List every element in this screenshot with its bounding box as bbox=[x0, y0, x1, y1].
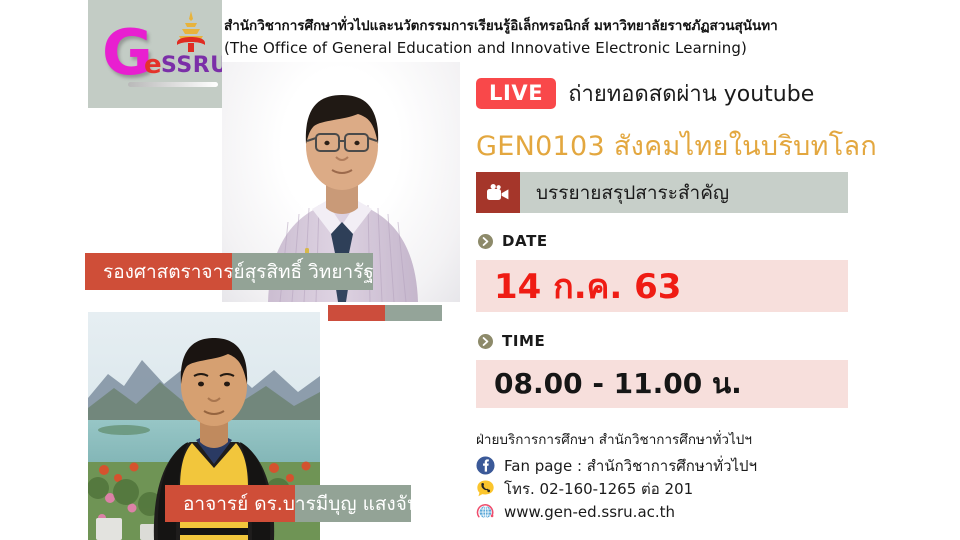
organization-title: สำนักวิชาการศึกษาทั่วไปและนวัตกรรมการเรี… bbox=[224, 16, 864, 60]
live-broadcast-text: ถ่ายทอดสดผ่าน youtube bbox=[568, 76, 814, 111]
time-value-bar: 08.00 - 11.00 น. bbox=[476, 360, 848, 408]
facebook-icon[interactable] bbox=[476, 456, 495, 475]
website-text: www.gen-ed.ssru.ac.th bbox=[504, 503, 675, 521]
time-value: 08.00 - 11.00 น. bbox=[494, 362, 742, 406]
chevron-right-circle-icon bbox=[478, 334, 493, 349]
chevron-right-circle-icon bbox=[478, 234, 493, 249]
date-value-bar: 14 ก.ค. 63 bbox=[476, 260, 848, 312]
decorative-bar-red bbox=[328, 305, 385, 321]
contact-row-phone[interactable]: โทร. 02-160-1265 ต่อ 201 bbox=[476, 477, 876, 500]
topic-text: บรรยายสรุปสาระสำคัญ bbox=[536, 178, 729, 208]
live-broadcast-row: LIVE ถ่ายทอดสดผ่าน youtube bbox=[476, 76, 814, 111]
video-camera-icon bbox=[476, 172, 520, 213]
time-label: TIME bbox=[502, 332, 545, 350]
org-title-english: (The Office of General Education and Inn… bbox=[224, 37, 864, 60]
date-label-row: DATE bbox=[478, 232, 548, 250]
contact-row-facebook[interactable]: Fan page : สำนักวิชาการศึกษาทั่วไปฯ bbox=[476, 454, 876, 477]
time-label-row: TIME bbox=[478, 332, 545, 350]
speaker-1-name-banner: รองศาสตราจารย์สุรสิทธิ์ วิทยารัฐ bbox=[85, 253, 373, 290]
ssru-logo: G e SSRU bbox=[88, 0, 222, 108]
logo-letters-ssru: SSRU bbox=[161, 55, 222, 77]
phone-text: โทร. 02-160-1265 ต่อ 201 bbox=[504, 477, 693, 501]
contact-heading: ฝ่ายบริการการศึกษา สำนักวิชาการศึกษาทั่ว… bbox=[476, 428, 876, 450]
contact-block: ฝ่ายบริการการศึกษา สำนักวิชาการศึกษาทั่ว… bbox=[476, 428, 876, 523]
logo-letter-e: e bbox=[144, 52, 162, 78]
contact-row-website[interactable]: www.gen-ed.ssru.ac.th bbox=[476, 500, 876, 523]
speaker-2-name-banner: อาจารย์ ดร.บารมีบุญ แสงจันทร์ bbox=[165, 485, 411, 522]
org-title-thai: สำนักวิชาการศึกษาทั่วไปและนวัตกรรมการเรี… bbox=[224, 16, 864, 37]
thai-crown-icon bbox=[174, 10, 208, 54]
date-value: 14 ก.ค. 63 bbox=[494, 259, 681, 313]
decorative-bar-grey bbox=[385, 305, 442, 321]
poster-canvas: G e SSRU สำนักวิชาการศึกษาทั่วไปและนวัตก… bbox=[0, 0, 960, 540]
date-label: DATE bbox=[502, 232, 548, 250]
facebook-text: Fan page : สำนักวิชาการศึกษาทั่วไปฯ bbox=[504, 454, 757, 478]
globe-icon[interactable] bbox=[476, 502, 495, 521]
phone-icon[interactable] bbox=[476, 479, 495, 498]
decorative-bar bbox=[328, 305, 442, 321]
live-badge: LIVE bbox=[476, 78, 556, 109]
course-title: GEN0103 สังคมไทยในบริบทโลก bbox=[476, 124, 877, 167]
speaker-1-name: รองศาสตราจารย์สุรสิทธิ์ วิทยารัฐ bbox=[103, 257, 374, 287]
speaker-2-name: อาจารย์ ดร.บารมีบุญ แสงจันทร์ bbox=[183, 489, 443, 519]
topic-bar: บรรยายสรุปสาระสำคัญ bbox=[476, 172, 848, 213]
